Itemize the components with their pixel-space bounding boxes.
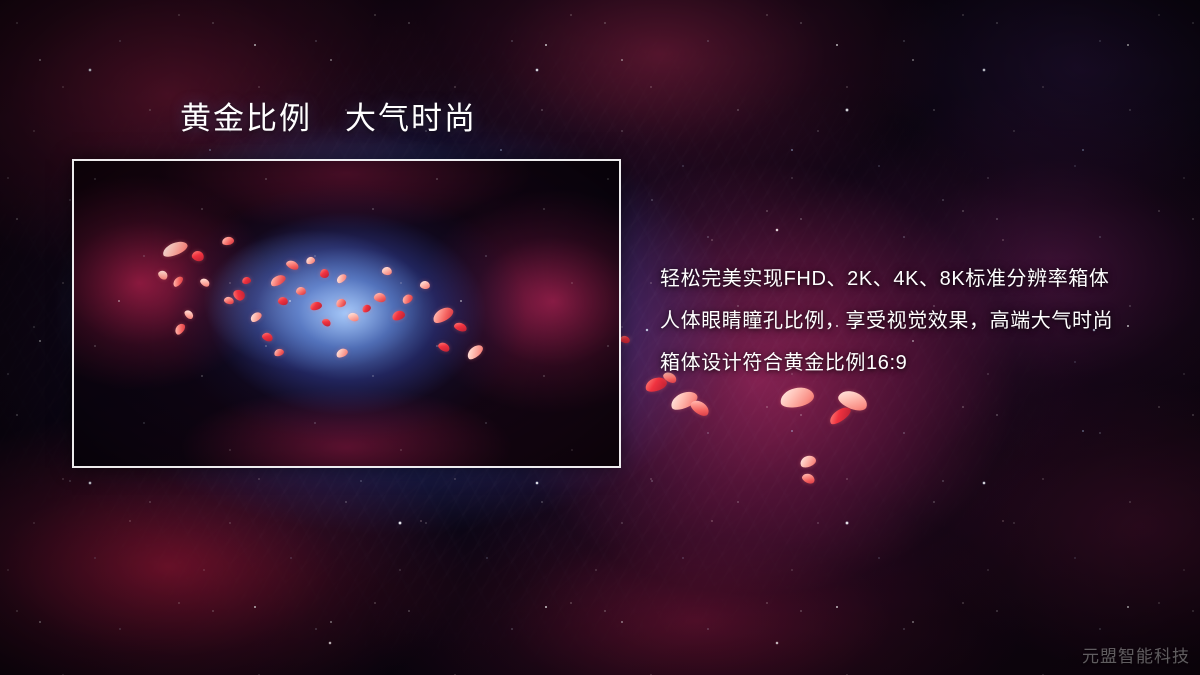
presentation-slide: 黄金比例 大气时尚 轻松完美实现FHD、2K、4K、8K标准分辨率箱体 人体眼睛… (0, 0, 1200, 675)
petal (801, 472, 817, 486)
company-watermark: 元盟智能科技 (1082, 642, 1190, 667)
feature-line-1: 轻松完美实现FHD、2K、4K、8K标准分辨率箱体 (660, 258, 1160, 300)
feature-description-block: 轻松完美实现FHD、2K、4K、8K标准分辨率箱体 人体眼睛瞳孔比例，享受视觉效… (660, 258, 1160, 384)
display-panel-vignette (74, 161, 619, 466)
slide-title: 黄金比例 大气时尚 (180, 101, 477, 138)
petal (778, 385, 815, 411)
petal (827, 404, 853, 427)
petal (688, 397, 711, 418)
feature-line-3: 箱体设计符合黄金比例16:9 (660, 342, 1160, 384)
feature-line-2: 人体眼睛瞳孔比例，享受视觉效果，高端大气时尚 (660, 300, 1160, 342)
led-display-preview-panel (72, 159, 621, 468)
petal (799, 454, 818, 470)
